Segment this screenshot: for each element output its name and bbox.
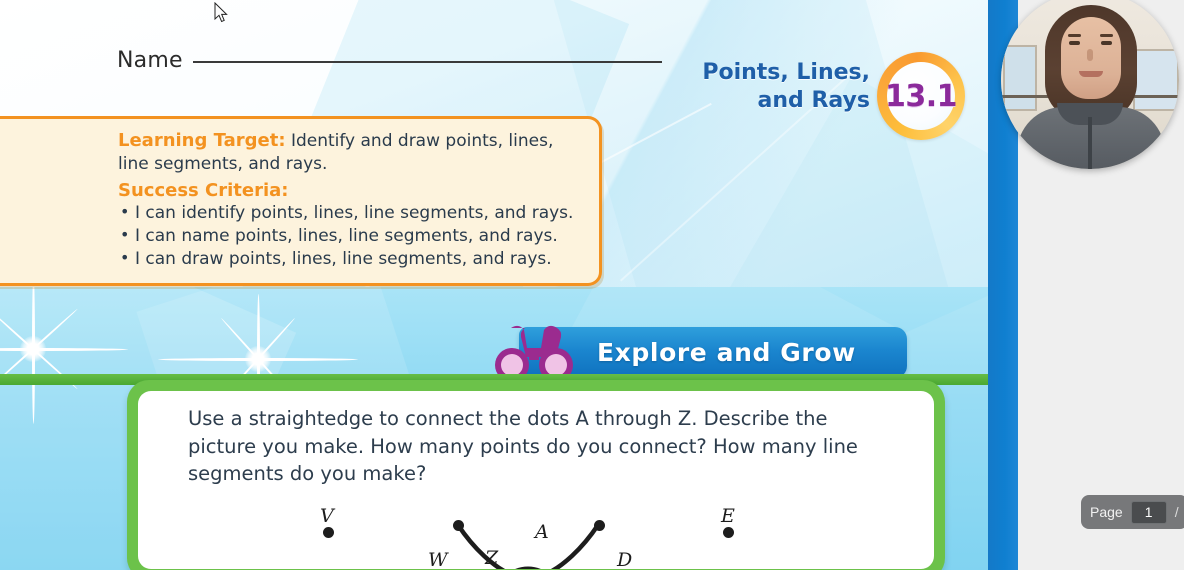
name-write-line[interactable] bbox=[193, 61, 662, 63]
explore-activity-card: Use a straightedge to connect the dots A… bbox=[127, 380, 945, 570]
success-criteria-heading: Success Criteria: bbox=[118, 180, 585, 201]
worksheet-page[interactable]: Name Points, Lines, and Rays 13.1 Learni… bbox=[0, 0, 1018, 570]
page-label: Page bbox=[1090, 504, 1123, 520]
dot-label-e: E bbox=[721, 505, 735, 527]
window-left bbox=[1003, 45, 1037, 111]
explore-and-grow-banner: Explore and Grow bbox=[519, 327, 907, 378]
eye-right bbox=[1101, 41, 1112, 45]
success-criteria-item: I can draw points, lines, line segments,… bbox=[118, 248, 585, 271]
dot-label-a: A bbox=[535, 521, 549, 543]
page-number-input[interactable]: 1 bbox=[1131, 501, 1167, 524]
lesson-number-badge: 13.1 bbox=[877, 52, 965, 140]
eyebrow-left bbox=[1068, 34, 1081, 37]
success-criteria-item: I can identify points, lines, line segme… bbox=[118, 202, 585, 225]
window-right bbox=[1133, 49, 1179, 111]
dot-point bbox=[453, 520, 464, 531]
explore-and-grow-title: Explore and Grow bbox=[597, 338, 856, 367]
success-criteria-list: I can identify points, lines, line segme… bbox=[118, 202, 585, 272]
explore-activity-card-inner: Use a straightedge to connect the dots A… bbox=[138, 391, 934, 569]
nose bbox=[1087, 49, 1093, 61]
dot-label-v: V bbox=[320, 505, 334, 527]
dot-label-d: D bbox=[617, 549, 632, 569]
jacket-zipper bbox=[1088, 117, 1092, 169]
activity-prompt: Use a straightedge to connect the dots A… bbox=[188, 405, 868, 488]
name-field-row: Name bbox=[117, 48, 662, 73]
dot-point bbox=[594, 520, 605, 531]
lesson-title: Points, Lines, and Rays bbox=[600, 59, 870, 114]
page-separator: / bbox=[1175, 504, 1179, 520]
success-criteria-item: I can name points, lines, line segments,… bbox=[118, 225, 585, 248]
mouse-cursor bbox=[214, 2, 228, 23]
page-navigation-control[interactable]: Page 1 / bbox=[1081, 495, 1184, 529]
eyebrow-right bbox=[1100, 34, 1113, 37]
lesson-title-line2: and Rays bbox=[600, 87, 870, 115]
learning-target-heading: Learning Target: bbox=[118, 130, 286, 151]
dot-label-z: Z bbox=[485, 547, 498, 569]
dot-label-w: W bbox=[428, 549, 448, 569]
dot-point bbox=[723, 527, 734, 538]
lesson-title-line1: Points, Lines, bbox=[702, 60, 870, 85]
name-label: Name bbox=[117, 48, 183, 73]
presenter-video-bubble[interactable] bbox=[1001, 0, 1179, 169]
learning-target-box: Learning Target: Identify and draw point… bbox=[0, 116, 602, 286]
lesson-number: 13.1 bbox=[885, 79, 957, 114]
dot-point bbox=[323, 527, 334, 538]
dot-diagram: V W Z A D E bbox=[138, 495, 934, 569]
lesson-number-badge-inner: 13.1 bbox=[887, 62, 955, 130]
learning-target-line: Learning Target: Identify and draw point… bbox=[118, 129, 585, 176]
eye-left bbox=[1069, 41, 1080, 45]
mouth bbox=[1079, 71, 1103, 77]
